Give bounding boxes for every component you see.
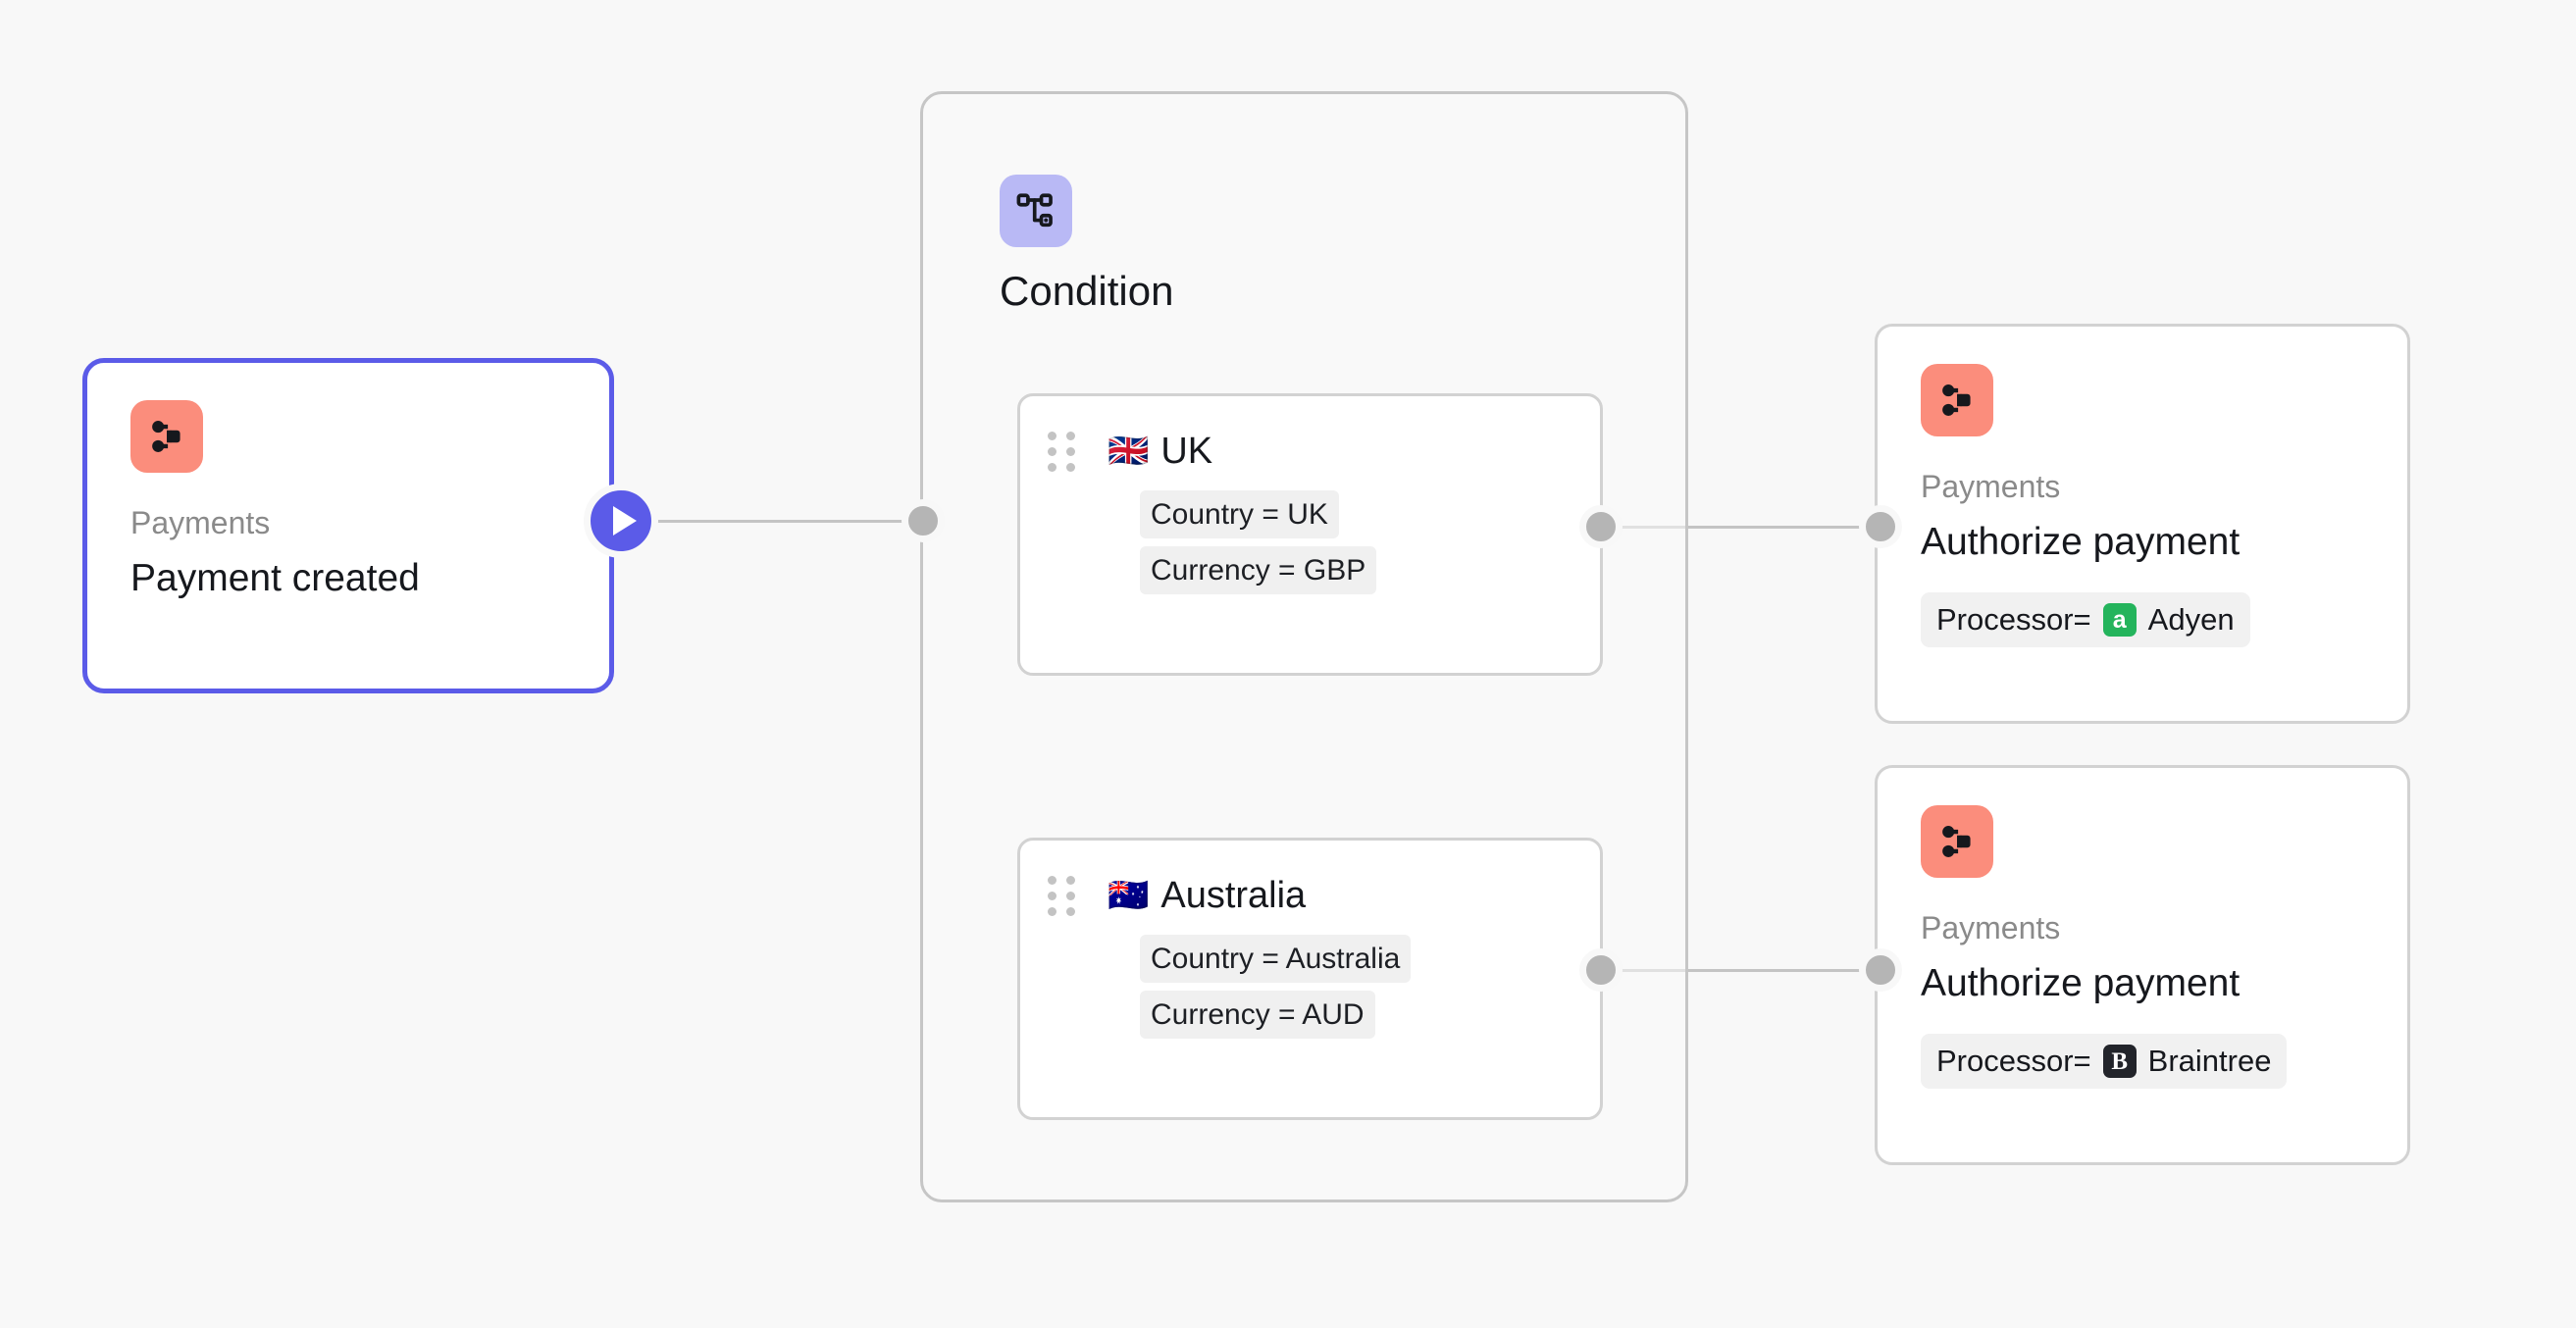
- branch-name-australia: Australia: [1160, 875, 1306, 917]
- drag-handle-icon[interactable]: [1048, 876, 1075, 916]
- condition-group[interactable]: Condition 🇬🇧 UK Country = UK Currency = …: [920, 91, 1688, 1202]
- branch-name-uk: UK: [1160, 431, 1212, 473]
- handle-australia-output[interactable]: [1579, 948, 1623, 992]
- trigger-node-payment-created[interactable]: Payments Payment created: [82, 358, 614, 693]
- payments-node-icon: [130, 400, 203, 473]
- action-node-authorize-payment-adyen[interactable]: Payments Authorize payment Processor= a …: [1875, 324, 2410, 724]
- processor-chip-adyen: Processor= a Adyen: [1921, 592, 2250, 647]
- drag-handle-icon[interactable]: [1048, 432, 1075, 472]
- handle-condition-input[interactable]: [902, 499, 945, 542]
- condition-chip: Currency = AUD: [1140, 991, 1375, 1039]
- uk-flag: 🇬🇧: [1108, 434, 1149, 468]
- condition-branch-icon: [1000, 175, 1072, 247]
- braintree-logo: B: [2103, 1045, 2137, 1078]
- adyen-logo: a: [2103, 603, 2137, 637]
- condition-chip: Currency = GBP: [1140, 546, 1376, 594]
- condition-title: Condition: [1000, 268, 1173, 315]
- condition-chip-list-australia: Country = Australia Currency = AUD: [1020, 935, 1600, 1047]
- condition-chip: Country = UK: [1140, 490, 1339, 538]
- condition-chip-list-uk: Country = UK Currency = GBP: [1020, 490, 1600, 602]
- action-title: Authorize payment: [1921, 962, 2364, 1006]
- processor-name: Braintree: [2148, 1044, 2272, 1079]
- handle-action-2-input[interactable]: [1859, 948, 1902, 992]
- action-title: Authorize payment: [1921, 521, 2364, 565]
- processor-label: Processor=: [1936, 1044, 2091, 1079]
- action-node-authorize-payment-braintree[interactable]: Payments Authorize payment Processor= B …: [1875, 765, 2410, 1165]
- play-icon: [613, 506, 637, 536]
- handle-action-1-input[interactable]: [1859, 505, 1902, 548]
- processor-name: Adyen: [2148, 602, 2235, 638]
- branch-header: 🇬🇧 UK: [1020, 424, 1600, 479]
- processor-chip-braintree: Processor= B Braintree: [1921, 1034, 2287, 1089]
- branch-card-uk[interactable]: 🇬🇧 UK Country = UK Currency = GBP: [1017, 393, 1603, 676]
- condition-chip: Country = Australia: [1140, 935, 1411, 983]
- handle-uk-output[interactable]: [1579, 505, 1623, 548]
- branch-card-australia[interactable]: 🇦🇺 Australia Country = Australia Currenc…: [1017, 838, 1603, 1120]
- trigger-category: Payments: [130, 506, 566, 540]
- processor-label: Processor=: [1936, 602, 2091, 638]
- australia-flag: 🇦🇺: [1108, 879, 1149, 912]
- payments-node-icon: [1921, 364, 1993, 436]
- payments-node-icon: [1921, 805, 1993, 878]
- trigger-title: Payment created: [130, 557, 566, 601]
- edge-trigger-to-condition: [650, 520, 925, 523]
- action-category: Payments: [1921, 911, 2364, 945]
- workflow-canvas[interactable]: Payments Payment created Condition �: [0, 0, 2576, 1328]
- run-workflow-button[interactable]: [584, 484, 658, 558]
- branch-header: 🇦🇺 Australia: [1020, 868, 1600, 923]
- action-category: Payments: [1921, 470, 2364, 504]
